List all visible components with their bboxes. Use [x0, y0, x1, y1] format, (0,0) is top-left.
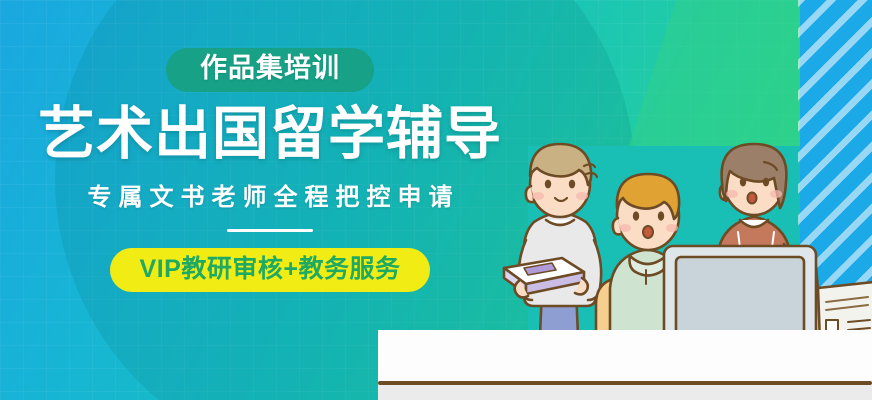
course-category-badge: 作品集培训 [166, 48, 374, 92]
headline-text-column: 作品集培训 艺术出国留学辅导 专属文书老师全程把控申请 VIP教研审核+教务服务 [0, 0, 540, 400]
subtitle-text: 专属文书老师全程把控申请 [81, 177, 460, 212]
promo-banner: 作品集培训 艺术出国留学辅导 专属文书老师全程把控申请 VIP教研审核+教务服务 [0, 0, 872, 400]
divider-line [227, 229, 313, 232]
page-title: 艺术出国留学辅导 [38, 105, 502, 165]
vip-service-badge: VIP教研审核+教务服务 [110, 248, 431, 293]
